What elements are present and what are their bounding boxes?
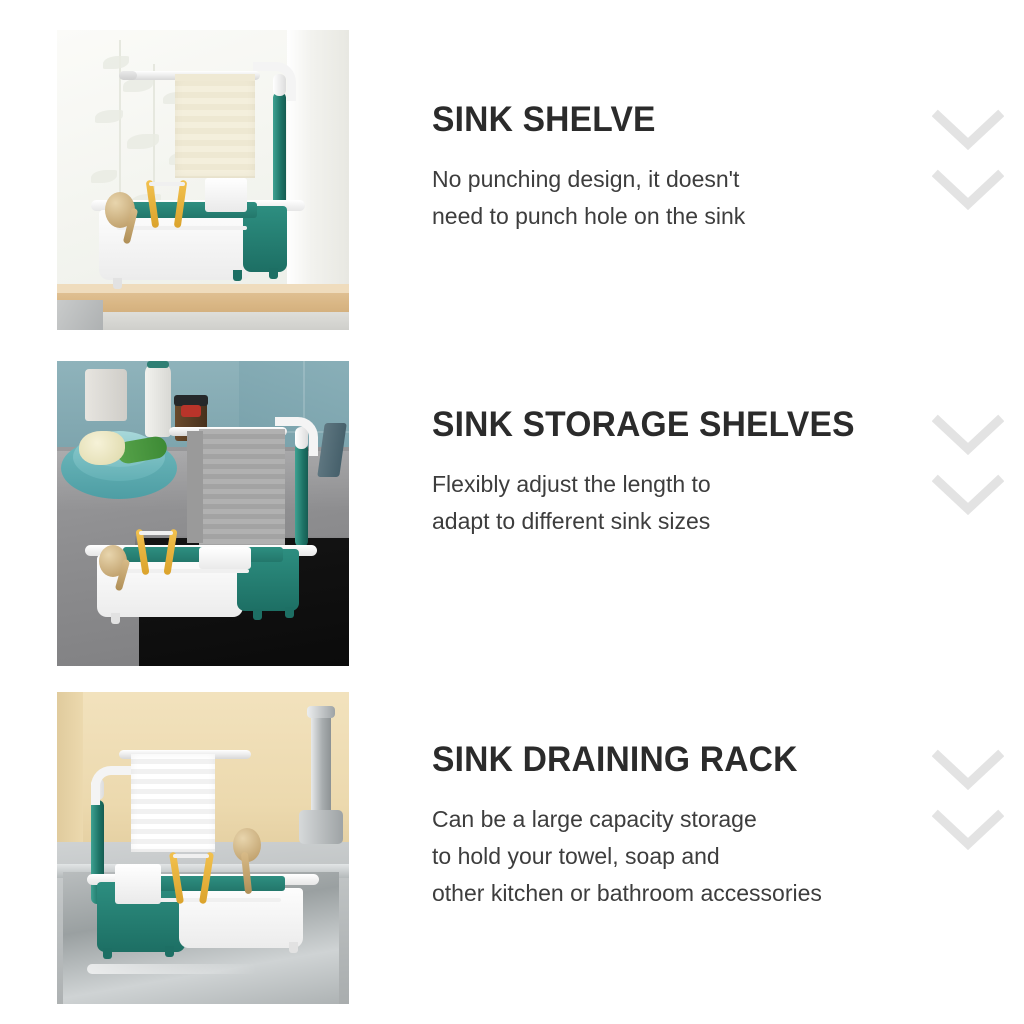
product-photo-sink-shelve (57, 30, 349, 330)
product-photo-sink-draining-rack (57, 692, 349, 1004)
chevron-down-icon[interactable] (932, 168, 1004, 214)
feature-row: SINK DRAINING RACK Can be a large capaci… (0, 686, 1024, 1016)
chevron-group (932, 748, 1004, 854)
infographic-page: SINK SHELVE No punching design, it doesn… (0, 0, 1024, 1024)
chevron-group (932, 413, 1004, 519)
feature-title: SINK STORAGE SHELVES (432, 407, 855, 444)
scene-gray-counter (57, 361, 349, 666)
chevron-down-icon[interactable] (932, 748, 1004, 794)
towel (199, 429, 285, 545)
feature-text-block: SINK STORAGE SHELVES Flexibly adjust the… (432, 407, 872, 540)
feature-desc-line: other kitchen or bathroom accessories (432, 875, 822, 912)
chevron-down-icon[interactable] (932, 413, 1004, 459)
feature-desc-line: need to punch hole on the sink (432, 198, 745, 235)
feature-desc-line: adapt to different sink sizes (432, 503, 872, 540)
chevron-down-icon[interactable] (932, 808, 1004, 854)
feature-desc-line: to hold your towel, soap and (432, 838, 822, 875)
towel (131, 754, 215, 852)
product-photo-sink-storage-shelves (57, 361, 349, 666)
feature-text-block: SINK DRAINING RACK Can be a large capaci… (432, 742, 822, 913)
sponge (205, 178, 247, 212)
feature-desc-line: Can be a large capacity storage (432, 801, 822, 838)
feature-desc-line: Flexibly adjust the length to (432, 466, 872, 503)
chevron-down-icon[interactable] (932, 473, 1004, 519)
feature-text-block: SINK SHELVE No punching design, it doesn… (432, 102, 745, 235)
feature-row: SINK SHELVE No punching design, it doesn… (0, 24, 1024, 354)
chevron-group (932, 108, 1004, 214)
feature-row: SINK STORAGE SHELVES Flexibly adjust the… (0, 355, 1024, 685)
feature-title: SINK DRAINING RACK (432, 742, 806, 779)
towel (175, 74, 255, 178)
scene-steel-sink (57, 692, 349, 1004)
feature-desc-line: No punching design, it doesn't (432, 161, 745, 198)
scene-windowsill (57, 30, 349, 330)
chevron-down-icon[interactable] (932, 108, 1004, 154)
feature-title: SINK SHELVE (432, 102, 733, 139)
